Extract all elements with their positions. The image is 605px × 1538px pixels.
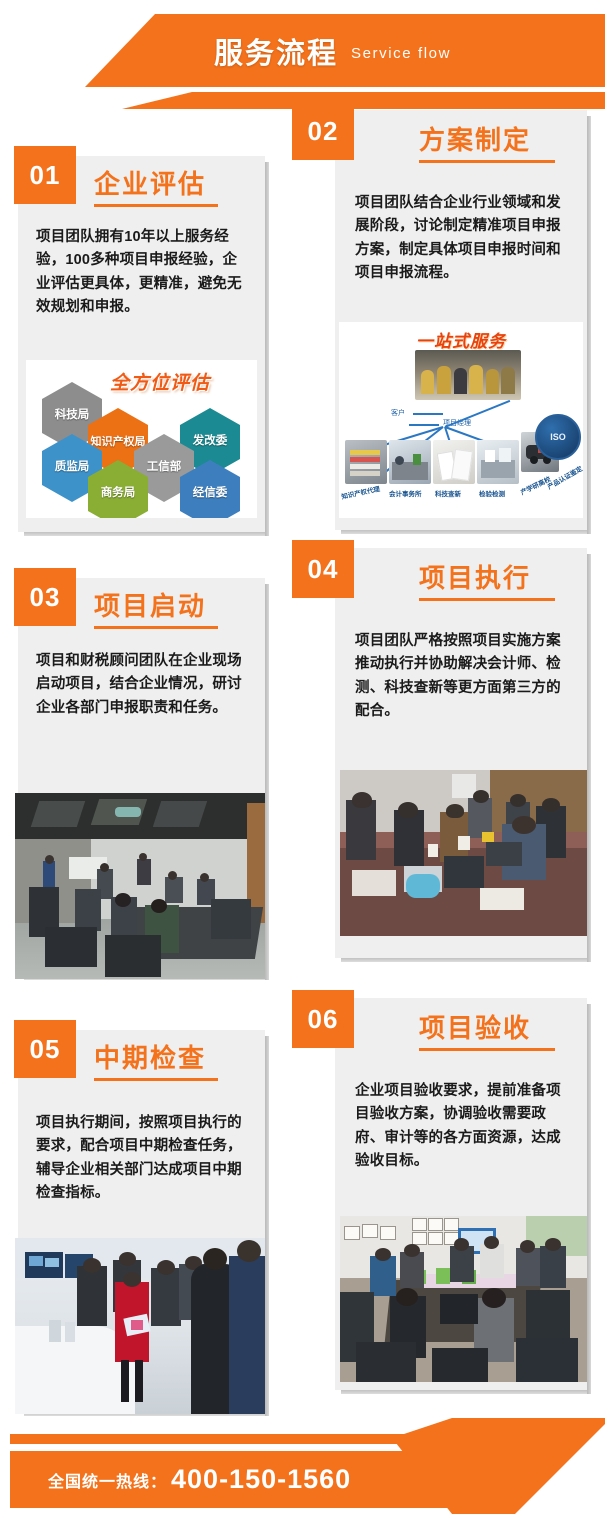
footer-hotline: 全国统一热线： 400-150-1560	[48, 1451, 351, 1508]
step-title-01: 企业评估	[94, 164, 206, 201]
meeting-room-photo	[15, 793, 265, 979]
service-arrow-3	[445, 400, 511, 428]
step-title-02: 方案制定	[419, 120, 531, 157]
step-body-05: 项目执行期间，按照项目执行的要求，配合项目中期检查任务，辅导企业相关部门达成项目…	[36, 1112, 248, 1206]
footer-hotline-number: 400-150-1560	[171, 1464, 351, 1495]
service-caption-innovation: 科技查新	[435, 488, 461, 498]
service-photo-accounting	[389, 440, 431, 484]
step-number-05: 05	[14, 1020, 76, 1078]
service-diagram-title: 一站式服务	[339, 327, 583, 352]
step-title-05: 中期检查	[94, 1038, 206, 1075]
step-body-04: 项目团队严格按照项目实施方案推动执行并协助解决会计师、检测、科技查新等更方面第三…	[355, 630, 567, 724]
service-flow-poster: 服务流程 Service flow 01 企业评估 项目团队拥有10年以上服务经…	[0, 0, 605, 1538]
step-title-04: 项目执行	[419, 558, 531, 595]
service-iso-badge: ISO	[535, 414, 581, 460]
page-title: 服务流程	[214, 30, 338, 72]
step-title-03: 项目启动	[94, 586, 206, 623]
step-card-01: 01 企业评估 项目团队拥有10年以上服务经验，100多种项目申报经验，企业评估…	[18, 156, 265, 532]
step-body-02: 项目团队结合企业行业领域和发展阶段，讨论制定精准项目申报方案，制定具体项目申报时…	[355, 192, 567, 286]
hexagon-assessment-diagram: 全方位评估 科技局 知识产权局 发改委 质监局 工信部 商务局 经信委	[26, 360, 257, 518]
service-caption-testing: 检验检测	[479, 488, 505, 498]
step-title-rule-03	[94, 626, 218, 629]
showroom-visit-photo	[15, 1238, 265, 1414]
step-number-04: 04	[292, 540, 354, 598]
step-body-01: 项目团队拥有10年以上服务经验，100多种项目申报经验，企业评估更具体，更精准，…	[36, 226, 248, 320]
footer-hotline-label: 全国统一热线：	[48, 1468, 167, 1492]
page-footer: 全国统一热线： 400-150-1560	[0, 1418, 605, 1538]
step-number-06: 06	[292, 990, 354, 1048]
step-title-rule-02	[419, 160, 555, 163]
header-title-group: 服务流程 Service flow	[0, 14, 605, 87]
step-title-rule-05	[94, 1078, 218, 1081]
service-node-customer: 客户	[391, 408, 405, 418]
one-stop-service-diagram: 一站式服务 客户 项目经理	[339, 322, 583, 518]
step-body-03: 项目和财税顾问团队在企业现场启动项目，结合企业情况，研讨企业各部门申报职责和任务…	[36, 650, 248, 720]
step-title-06: 项目验收	[419, 1008, 531, 1045]
hex-diagram-title: 全方位评估	[110, 368, 210, 395]
step-title-rule-04	[419, 598, 555, 601]
step-title-rule-06	[419, 1048, 555, 1051]
service-photo-ip	[345, 440, 387, 484]
step-title-rule-01	[94, 204, 218, 207]
service-photo-innovation	[433, 440, 475, 484]
page-subtitle: Service flow	[351, 45, 451, 62]
step-number-01: 01	[14, 146, 76, 204]
step-card-03: 03 项目启动 项目和财税顾问团队在企业现场启动项目，结合企业情况，研讨企业各部…	[18, 578, 265, 976]
conference-working-photo	[340, 770, 587, 936]
service-photo-testing	[477, 440, 519, 484]
step-card-05: 05 中期检查 项目执行期间，按照项目执行的要求，配合项目中期检查任务，辅导企业…	[18, 1030, 265, 1412]
service-arrow-2	[409, 424, 439, 426]
step-card-06: 06 项目验收 企业项目验收要求，提前准备项目验收方案，协调验收需要政府、审计等…	[335, 998, 587, 1390]
boardroom-acceptance-photo	[340, 1216, 587, 1382]
step-body-06: 企业项目验收要求，提前准备项目验收方案，协调验收需要政府、审计等的各方面资源，达…	[355, 1080, 567, 1174]
step-number-03: 03	[14, 568, 76, 626]
step-card-04: 04 项目执行 项目团队严格按照项目实施方案推动执行并协助解决会计师、检测、科技…	[335, 548, 587, 958]
service-caption-accounting: 会计事务所	[389, 488, 422, 498]
service-caption-ip: 知识产权代理	[340, 483, 380, 501]
service-top-photo	[415, 350, 521, 400]
step-card-02: 02 方案制定 项目团队结合企业行业领域和发展阶段，讨论制定精准项目申报方案，制…	[335, 110, 587, 530]
service-arrow-1	[413, 413, 443, 415]
step-number-02: 02	[292, 102, 354, 160]
